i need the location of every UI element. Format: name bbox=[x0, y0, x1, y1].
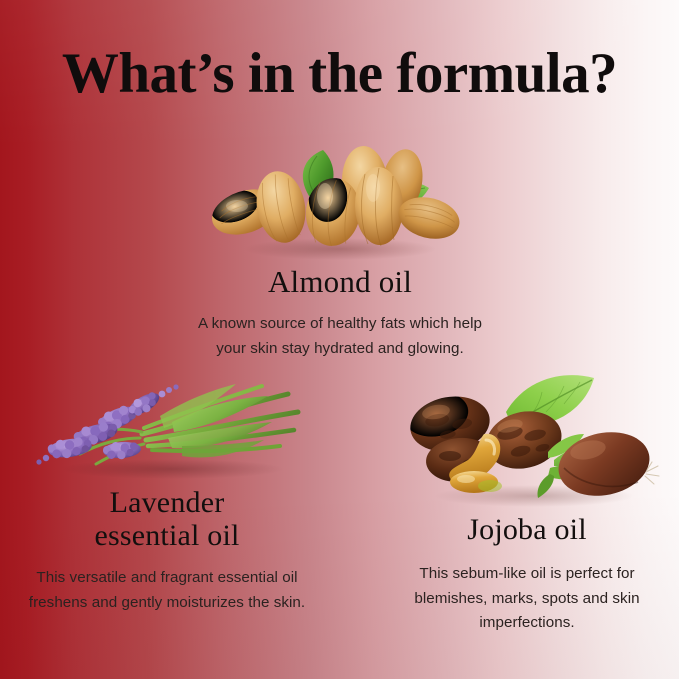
ingredient-name-lavender: Lavender essential oil bbox=[22, 486, 312, 552]
ingredient-name-jojoba: Jojoba oil bbox=[388, 512, 666, 548]
ingredient-name-almond: Almond oil bbox=[197, 264, 483, 300]
ingredient-card-jojoba: Jojoba oil This sebum-like oil is perfec… bbox=[388, 368, 666, 636]
lavender-bouquet-photo bbox=[22, 372, 312, 482]
ingredient-name-lavender-line2: essential oil bbox=[94, 519, 239, 552]
ingredient-card-lavender: Lavender essential oil This versatile an… bbox=[22, 372, 312, 615]
ingredient-name-lavender-line1: Lavender bbox=[110, 486, 225, 519]
page-title: What’s in the formula? bbox=[0, 42, 679, 106]
jojoba-seeds-photo bbox=[388, 368, 666, 510]
formula-poster: What’s in the formula? bbox=[0, 0, 679, 679]
ingredient-description-jojoba: This sebum-like oil is perfect for blemi… bbox=[388, 562, 666, 636]
ingredient-description-almond: A known source of healthy fats which hel… bbox=[197, 312, 483, 361]
ingredient-card-almond: Almond oil A known source of healthy fat… bbox=[197, 140, 483, 361]
almond-nuts-photo bbox=[197, 140, 483, 258]
ingredient-description-lavender: This versatile and fragrant essential oi… bbox=[22, 566, 312, 615]
